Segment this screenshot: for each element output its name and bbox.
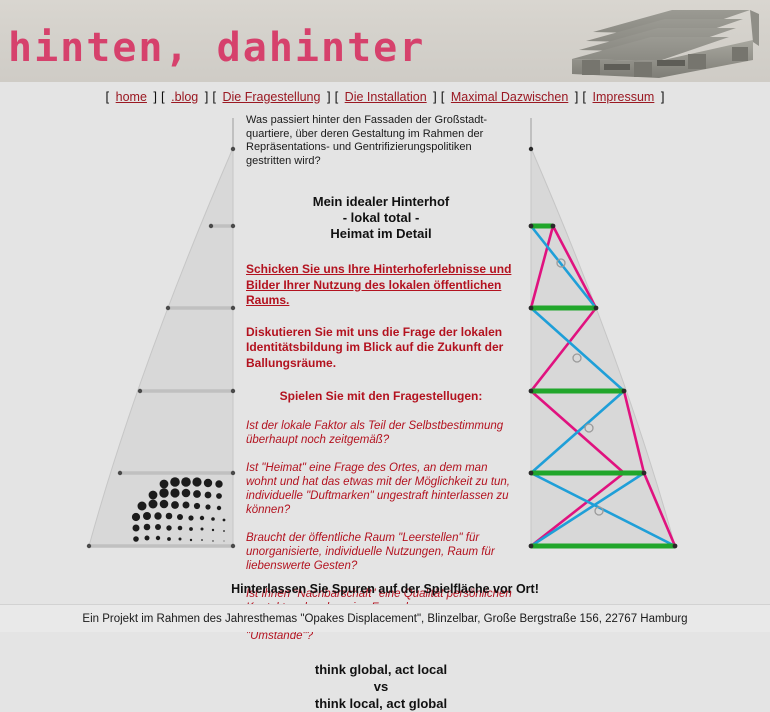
- nav-link-installation[interactable]: Die Installation: [342, 90, 430, 104]
- project-title-block: Mein idealer Hinterhof - lokal total - H…: [246, 194, 516, 242]
- intro-paragraph: Was passiert hinter den Fassaden der Gro…: [246, 114, 516, 168]
- sail-graphic-left: [78, 118, 248, 563]
- play-heading: Spielen Sie mit den Fragestellugen:: [246, 389, 516, 405]
- project-title-line2: - lokal total -: [246, 210, 516, 226]
- wooden-pallet-image: [560, 4, 760, 78]
- sail-graphic-right: [519, 118, 689, 563]
- bracket-open: [: [212, 89, 216, 104]
- bracket-close: ]: [661, 89, 665, 104]
- nav-link-blog[interactable]: .blog: [168, 90, 201, 104]
- footer-text: Ein Projekt im Rahmen des Jahresthemas "…: [82, 613, 687, 625]
- nav-link-home[interactable]: home: [113, 90, 150, 104]
- nav-item-maximal-dazwischen[interactable]: [ Maximal Dazwischen ]: [441, 89, 579, 104]
- tagline: Hinterlassen Sie Spuren auf der Spielflä…: [0, 582, 770, 596]
- bracket-close: ]: [433, 89, 437, 104]
- slogan-line2: vs: [246, 678, 516, 695]
- discuss-text: Diskutieren Sie mit uns die Frage der lo…: [246, 325, 516, 372]
- nav-item-home[interactable]: [ home ]: [106, 89, 158, 104]
- bracket-open: [: [106, 89, 110, 104]
- site-footer: Ein Projekt im Rahmen des Jahresthemas "…: [0, 604, 770, 632]
- bracket-open: [: [441, 89, 445, 104]
- question-item: Ist der lokale Faktor als Teil der Selbs…: [246, 419, 516, 447]
- nav-link-impressum[interactable]: Impressum: [590, 90, 658, 104]
- bracket-open: [: [335, 89, 339, 104]
- site-header: hinten, dahinter: [0, 0, 770, 82]
- sail-surface: [531, 148, 675, 546]
- question-item: Ist "Heimat" eine Frage des Ortes, an de…: [246, 461, 516, 517]
- project-title-line3: Heimat im Detail: [246, 226, 516, 242]
- call-to-action-text[interactable]: Schicken Sie uns Ihre Hinterhoferlebniss…: [246, 262, 516, 309]
- nav-link-maximal-dazwischen[interactable]: Maximal Dazwischen: [448, 90, 571, 104]
- nav-item-blog[interactable]: [ .blog ]: [161, 89, 208, 104]
- slogan-block: think global, act local vs think local, …: [246, 661, 516, 712]
- bracket-open: [: [161, 89, 165, 104]
- nav-item-fragestellung[interactable]: [ Die Fragestellung ]: [212, 89, 330, 104]
- main-navigation[interactable]: [ home ] [ .blog ] [ Die Fragestellung ]…: [0, 82, 770, 110]
- nav-link-fragestellung[interactable]: Die Fragestellung: [219, 90, 323, 104]
- bracket-close: ]: [205, 89, 209, 104]
- nav-item-installation[interactable]: [ Die Installation ]: [335, 89, 437, 104]
- bracket-close: ]: [153, 89, 157, 104]
- project-title-line1: Mein idealer Hinterhof: [246, 194, 516, 210]
- slogan-line1: think global, act local: [246, 661, 516, 678]
- site-title: hinten, dahinter: [8, 28, 425, 68]
- bracket-close: ]: [575, 89, 579, 104]
- nav-item-impressum[interactable]: [ Impressum ]: [582, 89, 664, 104]
- question-item: Braucht der öffentliche Raum "Leerstelle…: [246, 531, 516, 573]
- bracket-open: [: [582, 89, 586, 104]
- slogan-line3: think local, act global: [246, 695, 516, 712]
- bracket-close: ]: [327, 89, 331, 104]
